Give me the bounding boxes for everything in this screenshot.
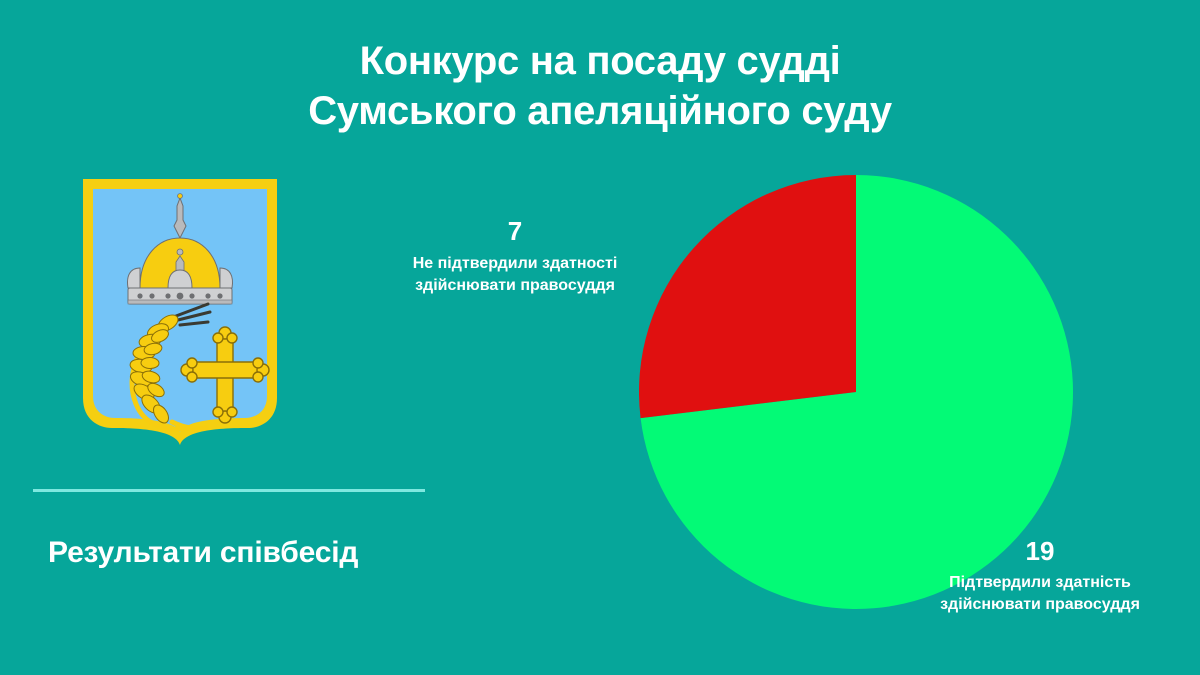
pie-desc-confirmed-line2: здійснювати правосуддя — [895, 594, 1185, 616]
pie-desc-not-confirmed-line1: Не підтвердили здатності — [370, 253, 660, 275]
caption-text: Результати співбесід — [48, 536, 358, 570]
page-title: Конкурс на посаду судді Сумського апеляц… — [0, 36, 1200, 137]
caption-divider — [33, 489, 425, 492]
pie-label-confirmed: 19 Підтвердили здатність здійснювати пра… — [895, 538, 1185, 616]
pie-value-confirmed: 19 — [895, 538, 1185, 565]
coat-of-arms-emblem — [80, 176, 280, 448]
pie-desc-not-confirmed-line2: здійснювати правосуддя — [370, 275, 660, 297]
infographic-slide: Конкурс на посаду судді Сумського апеляц… — [0, 0, 1200, 675]
pie-slice-not-confirmed[interactable] — [639, 175, 856, 418]
title-line-2: Сумського апеляційного суду — [0, 86, 1200, 136]
pie-value-not-confirmed: 7 — [370, 218, 660, 245]
pie-desc-confirmed-line1: Підтвердили здатність — [895, 572, 1185, 594]
title-line-1: Конкурс на посаду судді — [0, 36, 1200, 86]
pie-label-not-confirmed: 7 Не підтвердили здатності здійснювати п… — [370, 218, 660, 297]
